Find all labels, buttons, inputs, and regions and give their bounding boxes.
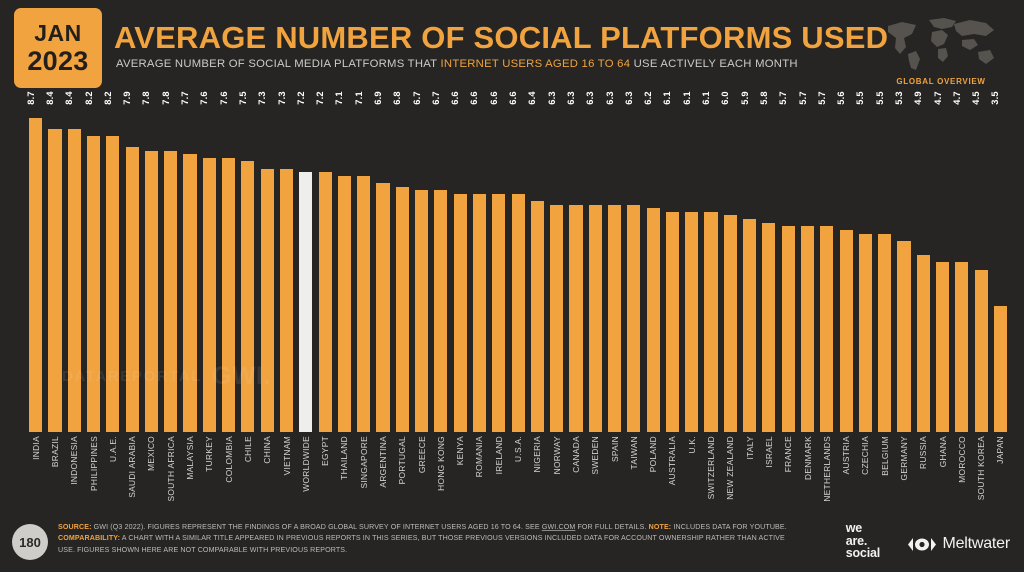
category-label: MALAYSIA: [185, 436, 195, 480]
bar-value-label: 7.1: [354, 91, 364, 105]
category-label: INDONESIA: [69, 436, 79, 485]
category-label-slot: CANADA: [566, 434, 585, 510]
meltwater-logo: Meltwater: [907, 535, 1010, 553]
bar-value-label: 7.3: [257, 91, 267, 105]
bar-value-label: 8.7: [26, 91, 36, 105]
category-label-slot: ISRAEL: [759, 434, 778, 510]
bar-value-label: 4.7: [952, 91, 962, 105]
bar-column: 6.6: [470, 100, 489, 432]
category-label-slot: POLAND: [644, 434, 663, 510]
bar-value-label: 7.2: [315, 91, 325, 105]
date-year: 2023: [27, 48, 88, 75]
bar: 6.6: [492, 194, 505, 432]
category-label-slot: EGYPT: [315, 434, 334, 510]
category-label: U.K.: [687, 436, 697, 454]
bar-value-label: 8.2: [103, 91, 113, 105]
bar: 4.9: [917, 255, 930, 432]
world-map-icon: [882, 14, 1000, 72]
source-text-2: FOR FULL DETAILS.: [575, 523, 648, 531]
bar-value-label: 6.7: [412, 91, 422, 105]
category-label-slot: SPAIN: [605, 434, 624, 510]
category-label-slot: GREECE: [412, 434, 431, 510]
bar: 6.3: [550, 205, 563, 432]
category-label-slot: MOROCCO: [952, 434, 971, 510]
bar-column: 5.7: [779, 100, 798, 432]
bar-value-label: 5.5: [855, 91, 865, 105]
bar-column: 7.3: [258, 100, 277, 432]
bar-value-label: 6.3: [547, 91, 557, 105]
category-label-slot: INDONESIA: [65, 434, 84, 510]
category-label-slot: U.S.A.: [508, 434, 527, 510]
bar: 7.9: [126, 147, 139, 432]
bar-column: 7.3: [277, 100, 296, 432]
bar-column: 6.3: [566, 100, 585, 432]
bar-value-label: 6.6: [469, 91, 479, 105]
bar: 5.7: [782, 226, 795, 432]
category-label-slot: SOUTH AFRICA: [161, 434, 180, 510]
category-label: NIGERIA: [532, 436, 542, 473]
bar-value-label: 6.3: [605, 91, 615, 105]
category-label: SWEDEN: [590, 436, 600, 475]
category-label-slot: RUSSIA: [914, 434, 933, 510]
category-label: TURKEY: [204, 436, 214, 472]
bar-value-label: 8.2: [84, 91, 94, 105]
bar-column: 6.7: [431, 100, 450, 432]
bar-value-label: 6.3: [624, 91, 634, 105]
bar-value-label: 7.9: [122, 91, 132, 105]
category-label: SPAIN: [610, 436, 620, 462]
bar-column: 5.3: [894, 100, 913, 432]
bar: 6.3: [589, 205, 602, 432]
was-line-1: we: [846, 522, 880, 535]
date-badge: JAN 2023: [14, 8, 102, 88]
bar: 7.7: [183, 154, 196, 432]
category-label: BRAZIL: [50, 436, 60, 467]
bar-value-label: 6.1: [662, 91, 672, 105]
category-label-slot: NORWAY: [547, 434, 566, 510]
bar-column: 5.9: [740, 100, 759, 432]
bar: 7.8: [145, 151, 158, 432]
category-label-slot: SWEDEN: [586, 434, 605, 510]
bar-column: 6.7: [412, 100, 431, 432]
page-subtitle: AVERAGE NUMBER OF SOCIAL MEDIA PLATFORMS…: [116, 58, 798, 70]
category-label: INDIA: [31, 436, 41, 460]
bar: 6.7: [434, 190, 447, 432]
bar-value-label: 7.5: [238, 91, 248, 105]
bar: 4.7: [955, 262, 968, 432]
category-label: GREECE: [417, 436, 427, 473]
bar-chart: 8.78.48.48.28.27.97.87.87.77.67.67.57.37…: [0, 100, 1024, 512]
bar: 7.3: [280, 169, 293, 432]
category-label-slot: ITALY: [740, 434, 759, 510]
category-label-slot: SAUDI ARABIA: [122, 434, 141, 510]
footnotes: SOURCE: GWI (Q3 2022). FIGURES REPRESENT…: [58, 522, 800, 556]
category-label: KENYA: [455, 436, 465, 465]
bar-column: 6.6: [489, 100, 508, 432]
bar-column: 7.8: [142, 100, 161, 432]
bar-value-label: 5.5: [875, 91, 885, 105]
bar-value-label: 6.8: [392, 91, 402, 105]
bar: 5.5: [878, 234, 891, 432]
infographic-slide: JAN 2023 AVERAGE NUMBER OF SOCIAL PLATFO…: [0, 0, 1024, 572]
note-text: INCLUDES DATA FOR YOUTUBE.: [671, 523, 787, 531]
category-label: SOUTH KOREA: [976, 436, 986, 500]
bar: 4.5: [975, 270, 988, 432]
bar: 7.6: [203, 158, 216, 432]
category-label: U.S.A.: [513, 436, 523, 462]
page-title: AVERAGE NUMBER OF SOCIAL PLATFORMS USED: [114, 20, 888, 56]
category-label-slot: SWITZERLAND: [701, 434, 720, 510]
bar-value-label: 6.0: [720, 91, 730, 105]
source-text: GWI (Q3 2022). FIGURES REPRESENT THE FIN…: [92, 523, 542, 531]
category-label-slot: GHANA: [933, 434, 952, 510]
bar: 6.7: [415, 190, 428, 432]
bar-column: 8.4: [45, 100, 64, 432]
was-line-3: social: [846, 547, 880, 560]
note-label: NOTE:: [649, 523, 672, 531]
bar-column: 5.6: [836, 100, 855, 432]
bar-column: 6.6: [508, 100, 527, 432]
bar-value-label: 6.6: [508, 91, 518, 105]
bar-value-label: 5.7: [778, 91, 788, 105]
category-label-slot: MALAYSIA: [180, 434, 199, 510]
bar-column: 4.7: [933, 100, 952, 432]
category-label: THAILAND: [339, 436, 349, 480]
bar-column: 6.0: [721, 100, 740, 432]
bar-value-label: 4.9: [913, 91, 923, 105]
bar-value-label: 5.3: [894, 91, 904, 105]
bar: 8.4: [68, 129, 81, 432]
bar-value-label: 7.1: [334, 91, 344, 105]
bar-column: 7.9: [122, 100, 141, 432]
category-label-slot: BELGIUM: [875, 434, 894, 510]
bar-column: 6.3: [624, 100, 643, 432]
category-label: WORLDWIDE: [301, 436, 311, 492]
bar-column: 6.1: [663, 100, 682, 432]
bar-column: 7.1: [354, 100, 373, 432]
category-label: AUSTRIA: [841, 436, 851, 474]
bar: 7.1: [357, 176, 370, 432]
category-label: NEW ZEALAND: [725, 436, 735, 500]
bar-value-label: 6.3: [585, 91, 595, 105]
bar-value-label: 4.7: [933, 91, 943, 105]
meltwater-name: Meltwater: [942, 535, 1010, 553]
bar-column: 6.8: [393, 100, 412, 432]
bar: 5.8: [762, 223, 775, 432]
bar: 6.1: [704, 212, 717, 432]
bar-column: 5.7: [798, 100, 817, 432]
bar: 7.6: [222, 158, 235, 432]
category-label-slot: U.A.E.: [103, 434, 122, 510]
subtitle-part-2: USE ACTIVELY EACH MONTH: [630, 58, 798, 70]
bar: 5.5: [859, 234, 872, 432]
bar-column: 5.7: [817, 100, 836, 432]
bar-value-label: 3.5: [990, 91, 1000, 105]
bar-column: 8.2: [84, 100, 103, 432]
bar-value-label: 5.9: [740, 91, 750, 105]
bar-value-label: 7.7: [180, 91, 190, 105]
category-label-slot: GERMANY: [894, 434, 913, 510]
bar-value-label: 5.6: [836, 91, 846, 105]
category-label: SINGAPORE: [359, 436, 369, 489]
footnote-source-line: SOURCE: GWI (Q3 2022). FIGURES REPRESENT…: [58, 522, 800, 533]
category-label: FRANCE: [783, 436, 793, 472]
category-label: GHANA: [938, 436, 948, 467]
bar: 6.3: [627, 205, 640, 432]
bar-column: 7.2: [315, 100, 334, 432]
category-label: SAUDI ARABIA: [127, 436, 137, 498]
category-label-slot: HONG KONG: [431, 434, 450, 510]
category-label-slot: PHILIPPINES: [84, 434, 103, 510]
category-label-slot: ROMANIA: [470, 434, 489, 510]
bar-value-label: 4.5: [971, 91, 981, 105]
bar-column: 6.2: [644, 100, 663, 432]
category-label: ROMANIA: [474, 436, 484, 477]
bar: 5.7: [801, 226, 814, 432]
bar-value-label: 7.8: [161, 91, 171, 105]
bar-column: 7.5: [238, 100, 257, 432]
bar-column: 6.6: [451, 100, 470, 432]
date-month: JAN: [34, 22, 82, 45]
bar: 5.7: [820, 226, 833, 432]
category-label: JAPAN: [995, 436, 1005, 464]
bar: 4.7: [936, 262, 949, 432]
category-label-slot: TAIWAN: [624, 434, 643, 510]
category-label-slot: CHINA: [258, 434, 277, 510]
bar: 6.1: [666, 212, 679, 432]
category-label-slot: CHILE: [238, 434, 257, 510]
bar-value-label: 5.7: [817, 91, 827, 105]
bar: 6.2: [647, 208, 660, 432]
category-label: GERMANY: [899, 436, 909, 480]
footnote-comparability-line: COMPARABILITY: A CHART WITH A SIMILAR TI…: [58, 533, 800, 556]
bar: 6.3: [569, 205, 582, 432]
category-label: MEXICO: [146, 436, 156, 471]
category-label-slot: COLOMBIA: [219, 434, 238, 510]
bar: 7.2: [319, 172, 332, 432]
category-label: AUSTRALIA: [667, 436, 677, 485]
bar-column: 6.9: [373, 100, 392, 432]
category-label: PORTUGAL: [397, 436, 407, 484]
bar: 6.3: [608, 205, 621, 432]
bar: 7.8: [164, 151, 177, 432]
bar-column: 6.4: [528, 100, 547, 432]
bar-column: 4.7: [952, 100, 971, 432]
bar: 6.6: [473, 194, 486, 432]
category-label: COLOMBIA: [224, 436, 234, 483]
bar-value-label: 6.3: [566, 91, 576, 105]
bar: 6.6: [512, 194, 525, 432]
bar-column: 6.1: [701, 100, 720, 432]
category-label-slot: NETHERLANDS: [817, 434, 836, 510]
header: JAN 2023 AVERAGE NUMBER OF SOCIAL PLATFO…: [0, 0, 1024, 96]
bar-column: 7.6: [219, 100, 238, 432]
bar-column: 4.5: [972, 100, 991, 432]
category-label-slot: JAPAN: [991, 434, 1010, 510]
chart-category-labels: INDIABRAZILINDONESIAPHILIPPINESU.A.E.SAU…: [26, 434, 1010, 510]
bar: 5.6: [840, 230, 853, 432]
category-label: ISRAEL: [764, 436, 774, 468]
category-label-slot: FRANCE: [779, 434, 798, 510]
bar-column: 3.5: [991, 100, 1010, 432]
comparability-text: A CHART WITH A SIMILAR TITLE APPEARED IN…: [58, 534, 785, 553]
bar: 8.2: [106, 136, 119, 432]
category-label-slot: INDIA: [26, 434, 45, 510]
category-label: HONG KONG: [436, 436, 446, 491]
bar: 5.9: [743, 219, 756, 432]
bar: 8.7: [29, 118, 42, 432]
category-label: NETHERLANDS: [822, 436, 832, 502]
subtitle-highlight: INTERNET USERS AGED 16 TO 64: [441, 58, 631, 70]
bar: 7.3: [261, 169, 274, 432]
bar-value-label: 7.2: [296, 91, 306, 105]
bar-value-label: 7.6: [199, 91, 209, 105]
category-label: SOUTH AFRICA: [166, 436, 176, 502]
footer: 180 SOURCE: GWI (Q3 2022). FIGURES REPRE…: [0, 512, 1024, 572]
category-label-slot: BRAZIL: [45, 434, 64, 510]
bar: 6.1: [685, 212, 698, 432]
bar-value-label: 7.6: [219, 91, 229, 105]
bar-value-label: 7.3: [277, 91, 287, 105]
category-label: CZECHIA: [860, 436, 870, 475]
bar-column: 6.3: [586, 100, 605, 432]
bar-column: 7.8: [161, 100, 180, 432]
bar-value-label: 6.6: [450, 91, 460, 105]
category-label: VIETNAM: [282, 436, 292, 475]
category-label-slot: TURKEY: [200, 434, 219, 510]
bar-value-label: 6.1: [682, 91, 692, 105]
category-label-slot: AUSTRALIA: [663, 434, 682, 510]
category-label: ARGENTINA: [378, 436, 388, 488]
bar-column: 4.9: [914, 100, 933, 432]
we-are-social-logo: we are. social: [846, 522, 880, 560]
bar-column: 5.8: [759, 100, 778, 432]
bar-column: 8.2: [103, 100, 122, 432]
bar-column: 7.1: [335, 100, 354, 432]
page-number: 180: [12, 524, 48, 560]
bar-value-label: 8.4: [64, 91, 74, 105]
category-label: ITALY: [745, 436, 755, 460]
category-label-slot: NEW ZEALAND: [721, 434, 740, 510]
category-label-slot: DENMARK: [798, 434, 817, 510]
global-overview-label: GLOBAL OVERVIEW: [874, 77, 1008, 86]
bar: 6.0: [724, 215, 737, 432]
bar: 6.4: [531, 201, 544, 432]
category-label: CHINA: [262, 436, 272, 464]
category-label: CANADA: [571, 436, 581, 473]
bar: 3.5: [994, 306, 1007, 432]
category-label-slot: CZECHIA: [856, 434, 875, 510]
bar-value-label: 6.1: [701, 91, 711, 105]
category-label: CHILE: [243, 436, 253, 462]
bar-value-label: 6.4: [527, 91, 537, 105]
category-label: MOROCCO: [957, 436, 967, 483]
category-label: TAIWAN: [629, 436, 639, 469]
category-label-slot: MEXICO: [142, 434, 161, 510]
category-label: EGYPT: [320, 436, 330, 466]
category-label: DENMARK: [803, 436, 813, 480]
category-label: POLAND: [648, 436, 658, 472]
bar-value-label: 5.7: [798, 91, 808, 105]
bar-column: 8.7: [26, 100, 45, 432]
bar: 7.2: [299, 172, 312, 432]
bar: 7.1: [338, 176, 351, 432]
subtitle-part-1: AVERAGE NUMBER OF SOCIAL MEDIA PLATFORMS…: [116, 58, 441, 70]
bar-value-label: 6.2: [643, 91, 653, 105]
bar: 8.2: [87, 136, 100, 432]
bar-column: 7.7: [180, 100, 199, 432]
bar-value-label: 6.7: [431, 91, 441, 105]
source-link[interactable]: GWI.COM: [542, 523, 576, 531]
bar-value-label: 6.6: [489, 91, 499, 105]
category-label-slot: THAILAND: [335, 434, 354, 510]
category-label-slot: AUSTRIA: [836, 434, 855, 510]
category-label: RUSSIA: [918, 436, 928, 469]
bar-value-label: 8.4: [45, 91, 55, 105]
bar-column: 6.3: [547, 100, 566, 432]
bar-value-label: 6.9: [373, 91, 383, 105]
comparability-label: COMPARABILITY:: [58, 534, 120, 542]
bar-column: 5.5: [856, 100, 875, 432]
bar-value-label: 5.8: [759, 91, 769, 105]
meltwater-eye-icon: [907, 537, 937, 552]
category-label-slot: PORTUGAL: [393, 434, 412, 510]
category-label-slot: U.K.: [682, 434, 701, 510]
bar: 6.6: [454, 194, 467, 432]
category-label: IRELAND: [494, 436, 504, 474]
bar-column: 7.6: [200, 100, 219, 432]
category-label-slot: WORLDWIDE: [296, 434, 315, 510]
category-label-slot: VIETNAM: [277, 434, 296, 510]
bar-value-label: 7.8: [141, 91, 151, 105]
bar-column: 5.5: [875, 100, 894, 432]
category-label: NORWAY: [552, 436, 562, 474]
category-label-slot: KENYA: [451, 434, 470, 510]
category-label: SWITZERLAND: [706, 436, 716, 499]
category-label-slot: NIGERIA: [528, 434, 547, 510]
category-label: BELGIUM: [880, 436, 890, 476]
bar: 7.5: [241, 161, 254, 432]
category-label: PHILIPPINES: [89, 436, 99, 491]
bar: 6.9: [376, 183, 389, 432]
bar: 6.8: [396, 187, 409, 432]
bar: 8.4: [48, 129, 61, 432]
chart-plot-area: 8.78.48.48.28.27.97.87.87.77.67.67.57.37…: [26, 100, 1010, 432]
bar: 5.3: [897, 241, 910, 432]
category-label: U.A.E.: [108, 436, 118, 462]
bar-column: 6.1: [682, 100, 701, 432]
bar-column: 7.2: [296, 100, 315, 432]
category-label-slot: SINGAPORE: [354, 434, 373, 510]
category-label-slot: SOUTH KOREA: [972, 434, 991, 510]
source-label: SOURCE:: [58, 523, 92, 531]
bar-column: 8.4: [65, 100, 84, 432]
bar-column: 6.3: [605, 100, 624, 432]
category-label-slot: ARGENTINA: [373, 434, 392, 510]
category-label-slot: IRELAND: [489, 434, 508, 510]
global-overview-badge: GLOBAL OVERVIEW: [874, 14, 1008, 86]
